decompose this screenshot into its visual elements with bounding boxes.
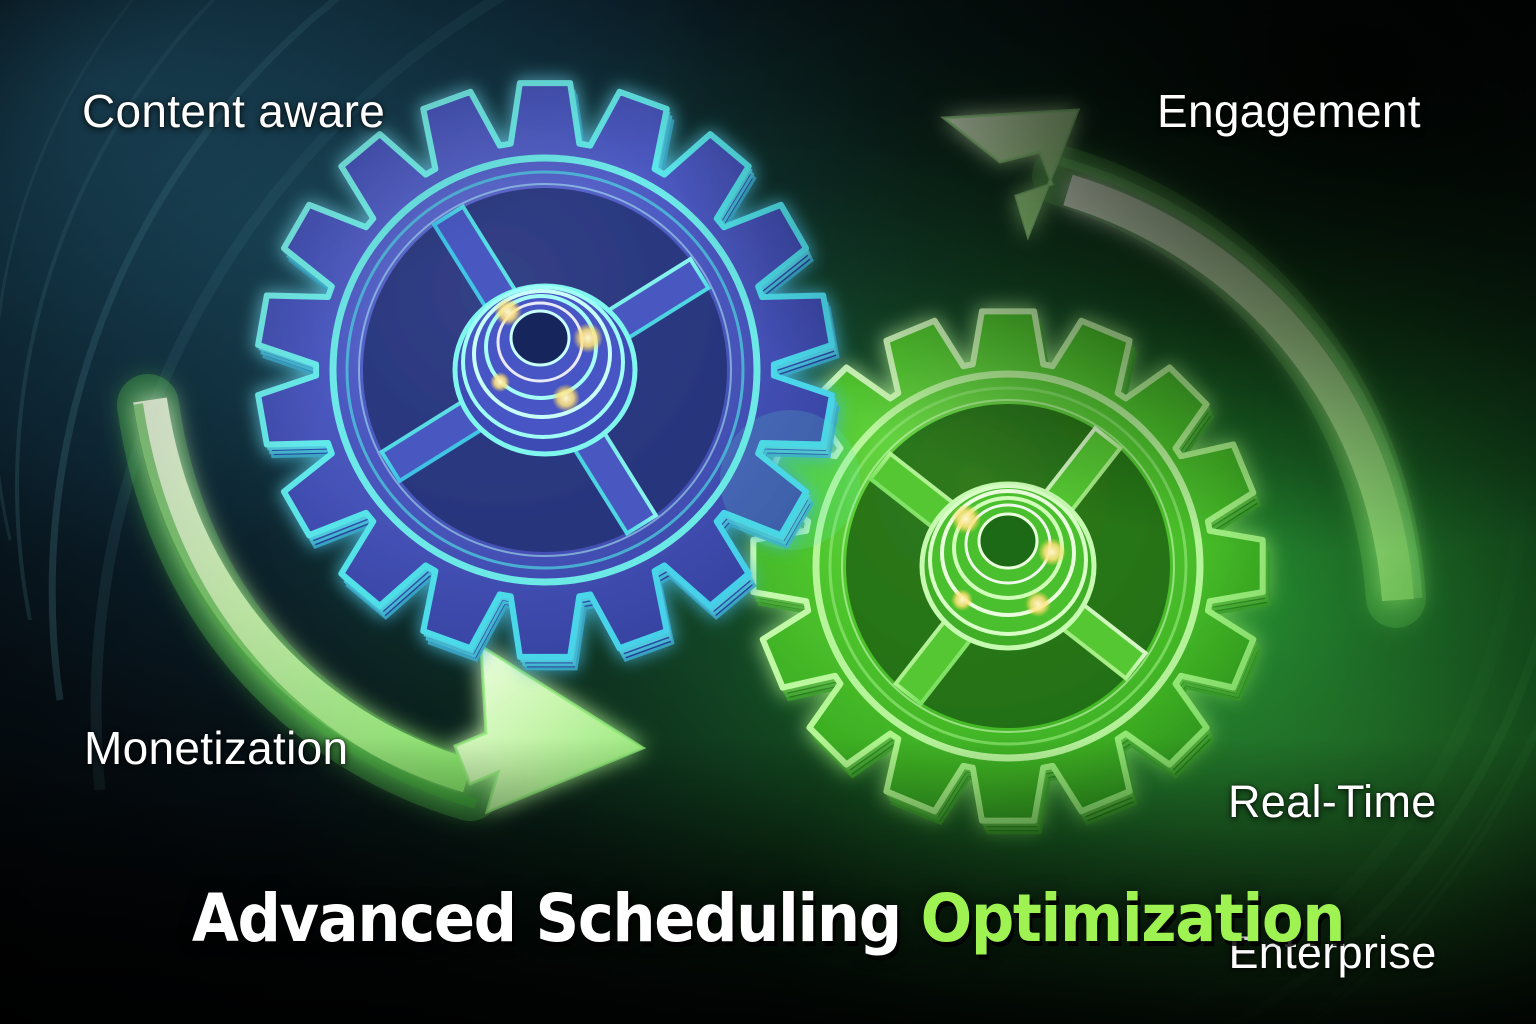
title-part-green: Optimization [921,880,1345,957]
page-title: Advanced Scheduling Optimization [61,886,1474,952]
title-part-white: Advanced Scheduling [192,880,901,957]
label-monetization: Monetization [84,723,348,775]
label-real-time-line-1: Real-Time [1228,777,1437,827]
label-real-time-enterprise: Real-Time Enterprise [1228,676,1437,1024]
title-separator [901,880,921,957]
label-engagement: Engagement [1157,86,1421,138]
label-content-aware: Content aware [82,86,385,138]
poster-canvas: Content aware Engagement Monetization Re… [0,0,1536,1024]
